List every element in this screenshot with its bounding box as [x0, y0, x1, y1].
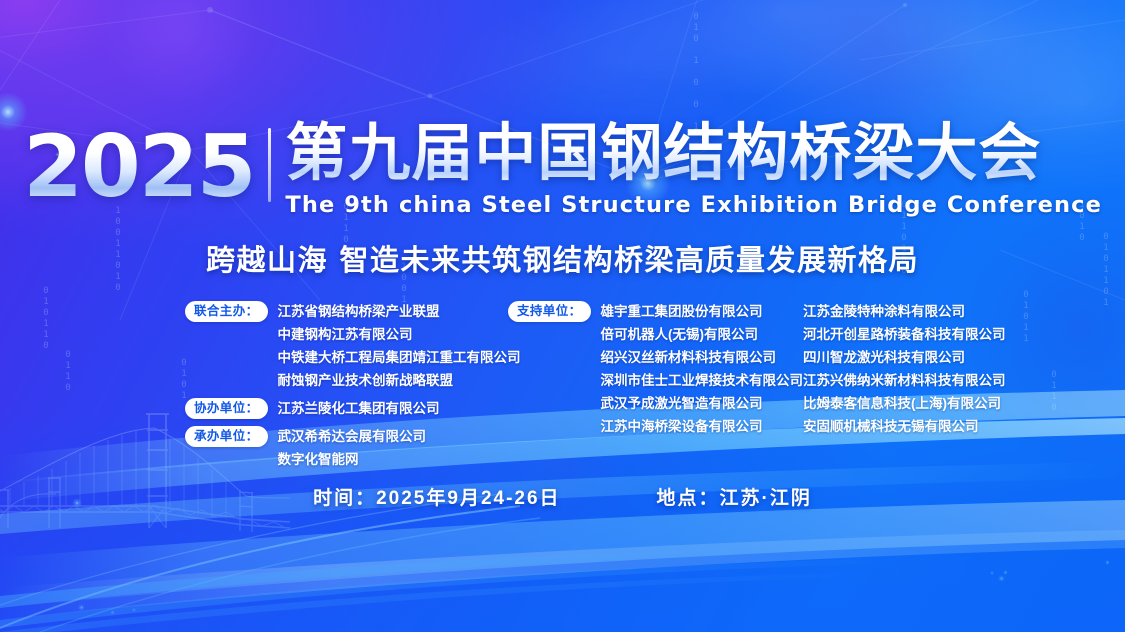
list-item: 中建钢构江苏有限公司 — [278, 323, 521, 346]
list-item: 中铁建大桥工程局集团靖江重工有限公司 — [278, 346, 521, 369]
list-item: 河北开创星路桥装备科技有限公司 — [803, 323, 1006, 346]
event-location: 地点：江苏·江阴 — [657, 483, 812, 510]
event-date: 时间：2025年9月24-26日 — [313, 483, 560, 510]
list-item: 绍兴汉丝新材料科技有限公司 — [601, 346, 804, 369]
list-item: 武汉希希达会展有限公司 — [278, 425, 427, 448]
slogan-text: 跨越山海 智造未来共筑钢结构桥梁高质量发展新格局 — [0, 237, 1125, 279]
sponsor-name-list: 江苏省钢结构桥梁产业联盟 中建钢构江苏有限公司 中铁建大桥工程局集团靖江重工有限… — [278, 300, 521, 392]
list-item: 江苏金陵特种涂料有限公司 — [803, 300, 1006, 323]
list-item: 数字化智能网 — [278, 448, 427, 471]
sponsors-column-right: 江苏金陵特种涂料有限公司 河北开创星路桥装备科技有限公司 四川智龙激光科技有限公… — [803, 300, 1103, 443]
title-row: 2025 第九届中国钢结构桥梁大会 The 9th china Steel St… — [0, 118, 1125, 218]
list-item: 江苏中海桥梁设备有限公司 — [601, 415, 804, 438]
list-item: 比姆泰客信息科技(上海)有限公司 — [803, 392, 1006, 415]
list-item: 江苏兴佛纳米新材料科技有限公司 — [803, 369, 1006, 392]
sponsor-name-list: 江苏兰陵化工集团有限公司 — [278, 397, 440, 420]
page-title: 第九届中国钢结构桥梁大会 — [285, 118, 1102, 188]
sponsor-group: 支持单位： 雄宇重工集团股份有限公司 倍可机器人(无锡)有限公司 绍兴汉丝新材料… — [508, 300, 798, 438]
title-block: 第九届中国钢结构桥梁大会 The 9th china Steel Structu… — [285, 118, 1102, 218]
year-text: 2025 — [23, 118, 254, 210]
status-badge: 协办单位： — [185, 398, 268, 419]
sponsor-name-list: 江苏金陵特种涂料有限公司 河北开创星路桥装备科技有限公司 四川智龙激光科技有限公… — [803, 300, 1006, 438]
status-badge: 支持单位： — [508, 301, 591, 322]
list-item: 武汉予成激光智造有限公司 — [601, 392, 804, 415]
sponsor-name-list: 雄宇重工集团股份有限公司 倍可机器人(无锡)有限公司 绍兴汉丝新材料科技有限公司… — [601, 300, 804, 438]
list-item: 四川智龙激光科技有限公司 — [803, 346, 1006, 369]
sponsor-group: 联合主办： 江苏省钢结构桥梁产业联盟 中建钢构江苏有限公司 中铁建大桥工程局集团… — [185, 300, 495, 392]
list-item: 江苏兰陵化工集团有限公司 — [278, 397, 440, 420]
sponsors-section: 联合主办： 江苏省钢结构桥梁产业联盟 中建钢构江苏有限公司 中铁建大桥工程局集团… — [0, 300, 1125, 450]
status-badge: 承办单位： — [185, 426, 268, 447]
sponsor-name-list: 武汉希希达会展有限公司 数字化智能网 — [278, 425, 427, 471]
sponsor-group: 江苏金陵特种涂料有限公司 河北开创星路桥装备科技有限公司 四川智龙激光科技有限公… — [803, 300, 1103, 438]
banner-content: 2025 第九届中国钢结构桥梁大会 The 9th china Steel St… — [0, 0, 1125, 632]
list-item: 安固顺机械科技无锡有限公司 — [803, 415, 1006, 438]
list-item: 江苏省钢结构桥梁产业联盟 — [278, 300, 521, 323]
conference-banner: 010110 0110 10011010 0101 011001 1001 01… — [0, 0, 1125, 632]
list-item: 倍可机器人(无锡)有限公司 — [601, 323, 804, 346]
sponsors-column-left: 联合主办： 江苏省钢结构桥梁产业联盟 中建钢构江苏有限公司 中铁建大桥工程局集团… — [185, 300, 495, 476]
event-footer: 时间：2025年9月24-26日 地点：江苏·江阴 — [0, 483, 1125, 510]
english-subtitle: The 9th china Steel Structure Exhibition… — [285, 192, 1102, 218]
list-item: 雄宇重工集团股份有限公司 — [601, 300, 804, 323]
status-badge: 联合主办： — [185, 301, 268, 322]
list-item: 深圳市佳士工业焊接技术有限公司 — [601, 369, 804, 392]
sponsor-group: 协办单位： 江苏兰陵化工集团有限公司 — [185, 397, 495, 420]
sponsor-group: 承办单位： 武汉希希达会展有限公司 数字化智能网 — [185, 425, 495, 471]
sponsors-column-middle: 支持单位： 雄宇重工集团股份有限公司 倍可机器人(无锡)有限公司 绍兴汉丝新材料… — [508, 300, 798, 443]
title-divider — [268, 128, 271, 202]
list-item: 耐蚀钢产业技术创新战略联盟 — [278, 369, 521, 392]
